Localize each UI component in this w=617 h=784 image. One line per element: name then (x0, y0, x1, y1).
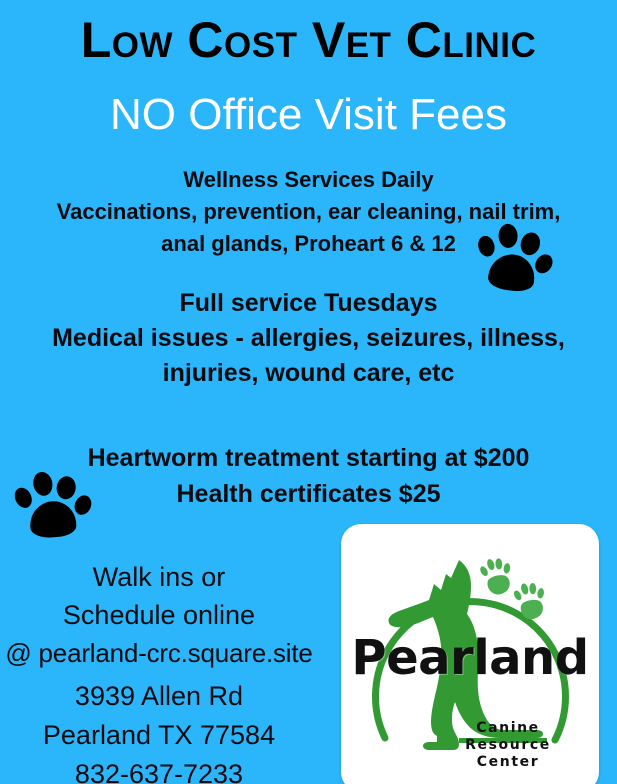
paw-toe (518, 230, 543, 258)
paw-toe (532, 251, 556, 277)
paw-toe (72, 493, 95, 518)
phone-number[interactable]: 832-637-7233 (0, 755, 318, 784)
flyer-poster: Low Cost Vet Clinic NO Office Visit Fees… (0, 0, 617, 784)
logo-paw-icon-1 (477, 555, 516, 598)
full-service-line-2: injuries, wound care, etc (0, 356, 617, 391)
address-street: 3939 Allen Rd (0, 677, 318, 716)
paw-print-icon (473, 218, 561, 304)
paw-toe (11, 485, 35, 511)
page-subtitle: NO Office Visit Fees (0, 88, 617, 142)
logo-tagline-line-3: Center (423, 754, 593, 771)
full-service-line-1: Medical issues - allergies, seizures, il… (0, 321, 617, 356)
scheduling-group: Walk ins or Schedule online @ pearland-c… (0, 558, 318, 672)
logo-tagline-line-2: Resource (423, 737, 593, 754)
logo-tagline: Canine Resource Center (423, 720, 593, 771)
address-group: 3939 Allen Rd Pearland TX 77584 832-637-… (0, 672, 318, 784)
paw-pad (29, 500, 77, 539)
paw-toe (31, 470, 55, 497)
paw-toe (498, 224, 518, 249)
logo-artwork: Pearland Canine Resource Center (341, 524, 599, 784)
contact-block: Walk ins or Schedule online @ pearland-c… (0, 558, 318, 784)
address-city-state-zip: Pearland TX 77584 (0, 716, 318, 755)
paw-toe (476, 234, 497, 259)
paw-toe (55, 475, 77, 500)
logo-wordmark: Pearland (341, 634, 599, 682)
clinic-logo-card: Pearland Canine Resource Center (341, 524, 599, 784)
website-link[interactable]: @ pearland-crc.square.site (0, 634, 318, 672)
paw-pad (487, 252, 537, 293)
page-title: Low Cost Vet Clinic (0, 12, 617, 68)
full-service-block: Full service Tuesdays Medical issues - a… (0, 286, 617, 391)
walk-ins-line: Walk ins or (0, 558, 318, 596)
wellness-heading: Wellness Services Daily (0, 164, 617, 196)
logo-tagline-line-1: Canine (423, 720, 593, 737)
schedule-online-line: Schedule online (0, 596, 318, 634)
paw-print-icon (13, 465, 98, 548)
